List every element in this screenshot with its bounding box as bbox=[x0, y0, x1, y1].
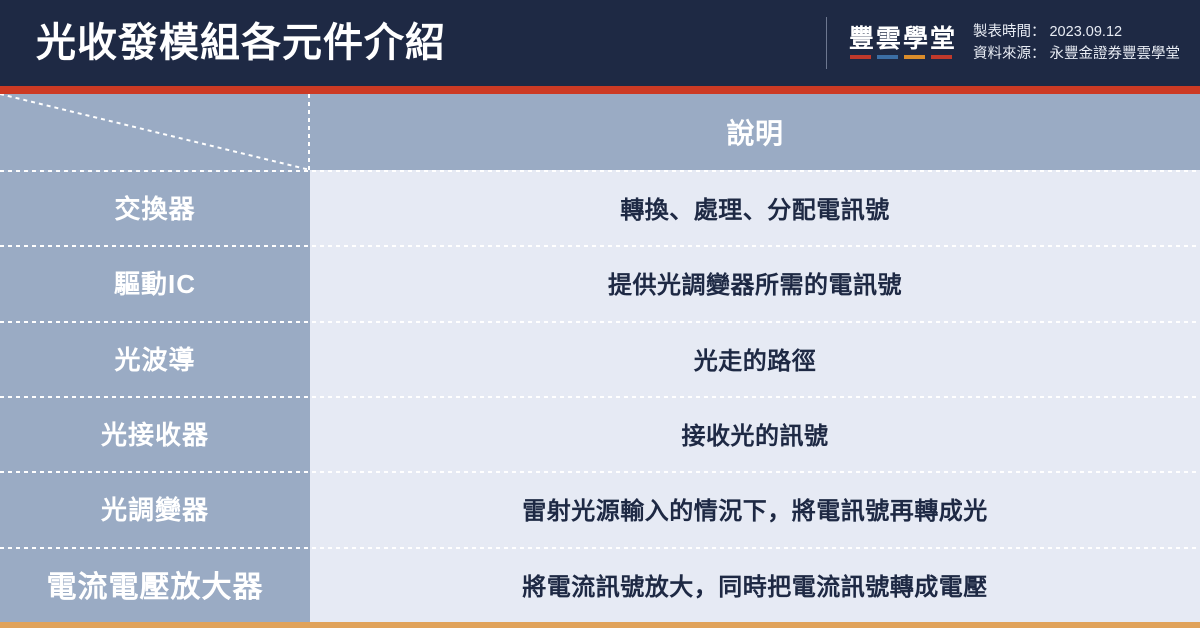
logo-char-4: 堂 bbox=[930, 27, 955, 59]
table-row: 驅動IC 提供光調變器所需的電訊號 bbox=[0, 245, 1200, 320]
table-row: 交換器 轉換、處理、分配電訊號 bbox=[0, 170, 1200, 245]
component-name-cell: 光波導 bbox=[0, 321, 310, 396]
table-corner-cell bbox=[0, 94, 310, 170]
footer-accent-bar bbox=[0, 622, 1200, 628]
table-row: 光接收器 接收光的訊號 bbox=[0, 396, 1200, 471]
component-name-cell: 驅動IC bbox=[0, 245, 310, 320]
component-description-cell: 接收光的訊號 bbox=[310, 396, 1200, 471]
created-time-line: 製表時間： 2023.09.12 bbox=[973, 21, 1180, 43]
component-description-cell: 轉換、處理、分配電訊號 bbox=[310, 170, 1200, 245]
table-row: 光調變器 雷射光源輸入的情況下，將電訊號再轉成光 bbox=[0, 471, 1200, 546]
logo-char-1: 豐 bbox=[849, 27, 874, 59]
table-row: 電流電壓放大器 將電流訊號放大，同時把電流訊號轉成電壓 bbox=[0, 547, 1200, 622]
brand-logo: 豐 雲 學 堂 bbox=[849, 27, 957, 59]
data-source-line: 資料來源： 永豐金證券豐雲學堂 bbox=[973, 43, 1180, 65]
component-name-cell: 電流電壓放大器 bbox=[0, 547, 310, 622]
header-accent-bar bbox=[0, 86, 1200, 94]
component-name-cell: 交換器 bbox=[0, 170, 310, 245]
header-right-group: 豐 雲 學 堂 製表時間： 2023.09.12 資料來源： 永豐金證券豐雲學堂 bbox=[826, 0, 1180, 86]
component-name-cell: 光接收器 bbox=[0, 396, 310, 471]
components-table: 說明 交換器 轉換、處理、分配電訊號 驅動IC 提供光調變器所需的電訊號 光波導… bbox=[0, 94, 1200, 622]
page-title: 光收發模組各元件介紹 bbox=[36, 23, 446, 63]
column-header-description: 說明 bbox=[310, 94, 1200, 170]
corner-diagonal-line bbox=[0, 94, 310, 170]
logo-char-3: 學 bbox=[903, 27, 928, 59]
table-row: 光波導 光走的路徑 bbox=[0, 321, 1200, 396]
table-header-row: 說明 bbox=[0, 94, 1200, 170]
logo-char-2: 雲 bbox=[876, 27, 901, 59]
component-description-cell: 光走的路徑 bbox=[310, 321, 1200, 396]
component-description-cell: 雷射光源輸入的情況下，將電訊號再轉成光 bbox=[310, 471, 1200, 546]
page-header: 光收發模組各元件介紹 豐 雲 學 堂 製表時間： 2023.09.12 資料來源… bbox=[0, 0, 1200, 86]
infographic-canvas: 光收發模組各元件介紹 豐 雲 學 堂 製表時間： 2023.09.12 資料來源… bbox=[0, 0, 1200, 628]
header-meta: 製表時間： 2023.09.12 資料來源： 永豐金證券豐雲學堂 bbox=[973, 21, 1180, 66]
component-description-cell: 將電流訊號放大，同時把電流訊號轉成電壓 bbox=[310, 547, 1200, 622]
header-vertical-divider bbox=[826, 17, 827, 69]
component-name-cell: 光調變器 bbox=[0, 471, 310, 546]
component-description-cell: 提供光調變器所需的電訊號 bbox=[310, 245, 1200, 320]
